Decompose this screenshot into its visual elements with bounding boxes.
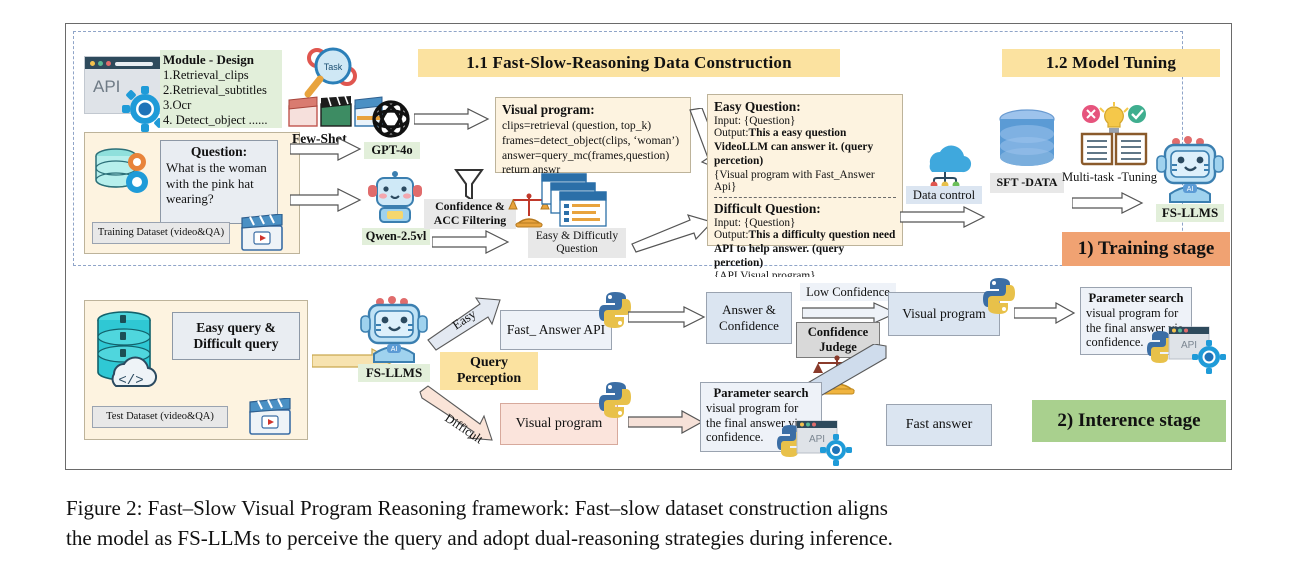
module-design-box: Module - Design 1.Retrieval_clips 2.Retr… [160,50,282,128]
robot-icon-qwen [366,168,424,226]
sft-data-label: SFT -DATA [990,173,1064,193]
query-perception-line-2: Perception [457,371,521,387]
task-magnifier-icon: Task [300,44,366,104]
arrow-vp-to-param-search-2 [628,410,704,434]
qa-divider [714,197,896,198]
svg-text:AI: AI [391,346,398,353]
visual-program-line-4: return answr [502,163,684,178]
easy-question-output-prefix: Output: [714,127,749,139]
python-icon-1 [598,290,632,330]
query-type-line-2: Difficult query [193,336,278,352]
svg-text:AI: AI [1187,186,1194,193]
filter-label: Confidence & ACC Filtering [424,199,516,229]
task-icon-label: Task [324,62,343,72]
figure-caption-line-2: the model as FS-LLMs to perceive the que… [66,524,1236,554]
fast-answer-box: Fast answer [886,404,992,446]
arrow-fastapi-to-answer [628,306,706,328]
inference-stage-badge: 2) Interence stage [1032,400,1226,442]
fast-answer-api-box: Fast_ Answer API [500,310,612,350]
svg-text:</>: </> [118,373,143,389]
multi-task-tuning-label: Multi-task -Tuning [1062,170,1157,185]
robot-icon-fs-llms-inference: AI [360,296,428,366]
arrow-qwen-to-filter [432,230,510,254]
easy-question-extra: {Visual program with Fast_Answer Api} [714,169,896,193]
database-gears-icon [92,144,154,202]
difficult-question-input: Input: {Question} [714,217,896,229]
module-design-title: Module - Design [163,52,279,68]
visual-program-box: Visual program: clips=retrieval (questio… [495,97,691,173]
arrow-vp-to-param-search [1014,302,1076,324]
answer-confidence-line-2: Confidence [719,318,779,334]
arrow-sft-to-fsllms [1072,192,1144,214]
test-dataset-label: Test Dataset (video&QA) [92,406,228,428]
question-card-body: What is the woman with the pink hat wear… [166,160,272,207]
clapperboard-icon [240,214,286,252]
figure-caption: Figure 2: Fast–Slow Visual Program Reaso… [66,494,1236,554]
arrow-questions-to-qa [630,214,714,254]
answer-confidence-line-1: Answer & [722,302,776,318]
qa-pairs-box: Easy Question: Input: {Question} Output:… [707,94,903,246]
section-1-2-header: 1.2 Model Tuning [1002,49,1220,77]
arrow-gpt-to-visual-program [414,108,490,130]
fs-llms-label-training: FS-LLMS [1156,204,1224,222]
query-perception-label: Query Perception [440,352,538,390]
visual-program-line-3: answer=query_mc(frames,question) [502,149,684,164]
visual-program-title: Visual program: [502,102,684,119]
difficult-question-output-prefix: Output: [714,229,749,241]
figure-caption-line-1: Figure 2: Fast–Slow Visual Program Reaso… [66,494,1236,524]
gear-icon-3 [820,434,852,466]
data-control-label: Data control [906,186,982,204]
database-code-cloud-icon: </> [92,310,168,396]
gpt-4o-label: GPT-4o [364,142,420,159]
training-dataset-label: Training Dataset (video&QA) [92,222,230,244]
visual-program-line-1: clips=retrieval (question, top_k) [502,119,684,134]
module-design-item-4: 4. Detect_object ...... [163,113,279,128]
python-icon-4 [598,380,632,420]
question-card: Question: What is the woman with the pin… [160,140,278,224]
arrow-low-confidence [802,302,898,324]
easy-question-input: Input: {Question} [714,115,896,127]
module-design-item-2: 2.Retrieval_subtitles [163,83,279,98]
answer-confidence-box: Answer & Confidence [706,292,792,344]
arrow-easy: Easy [424,296,502,352]
confidence-judge-line-1: Confidence [808,325,868,340]
low-confidence-label: Low Confidence [800,283,896,301]
python-icon-2 [982,276,1016,316]
query-type-box: Easy query & Difficult query [172,312,300,360]
section-1-1-header: 1.1 Fast-Slow-Reasoning Data Constructio… [418,49,840,77]
parameter-search-title-1: Parameter search [1086,291,1186,306]
clapperboard-icon-test [248,398,294,436]
arrow-qa-to-sft [900,206,986,228]
arrow-dataset-to-qwen [290,188,362,212]
question-card-title: Question: [166,144,272,160]
easy-question-title: Easy Question: [714,99,896,115]
difficult-question-title: Difficult Question: [714,201,896,217]
easy-difficult-question-label: Easy & Difficutly Question [528,228,626,258]
gear-icon-2 [1192,340,1226,374]
robot-icon-fs-llms-training: AI [1156,136,1224,206]
arrow-difficult: Difficult [418,384,502,446]
parameter-search-title-2: Parameter search [706,386,816,401]
arrow-dataset-to-gpt [290,137,362,161]
module-design-item-1: 1.Retrieval_clips [163,68,279,83]
figure-2-container: 1.1 Fast-Slow-Reasoning Data Constructio… [0,0,1297,586]
query-perception-line-1: Query [470,355,508,371]
api-window-text: API [93,77,120,97]
sft-database-icon [996,108,1058,170]
query-type-line-1: Easy query & [196,320,276,336]
module-design-item-3: 3.Ocr [163,98,279,113]
book-lightbulb-icon [1078,102,1150,168]
documents-stack-icon [540,172,610,228]
cloud-data-control-icon [916,140,974,188]
training-stage-badge: 1) Training stage [1062,232,1230,266]
visual-program-line-2: frames=detect_object(clips, ‘woman’) [502,134,684,149]
qwen-label: Qwen-2.5vl [362,228,430,245]
fs-llms-label-inference: FS-LLMS [358,364,430,382]
openai-logo-icon [368,96,414,142]
